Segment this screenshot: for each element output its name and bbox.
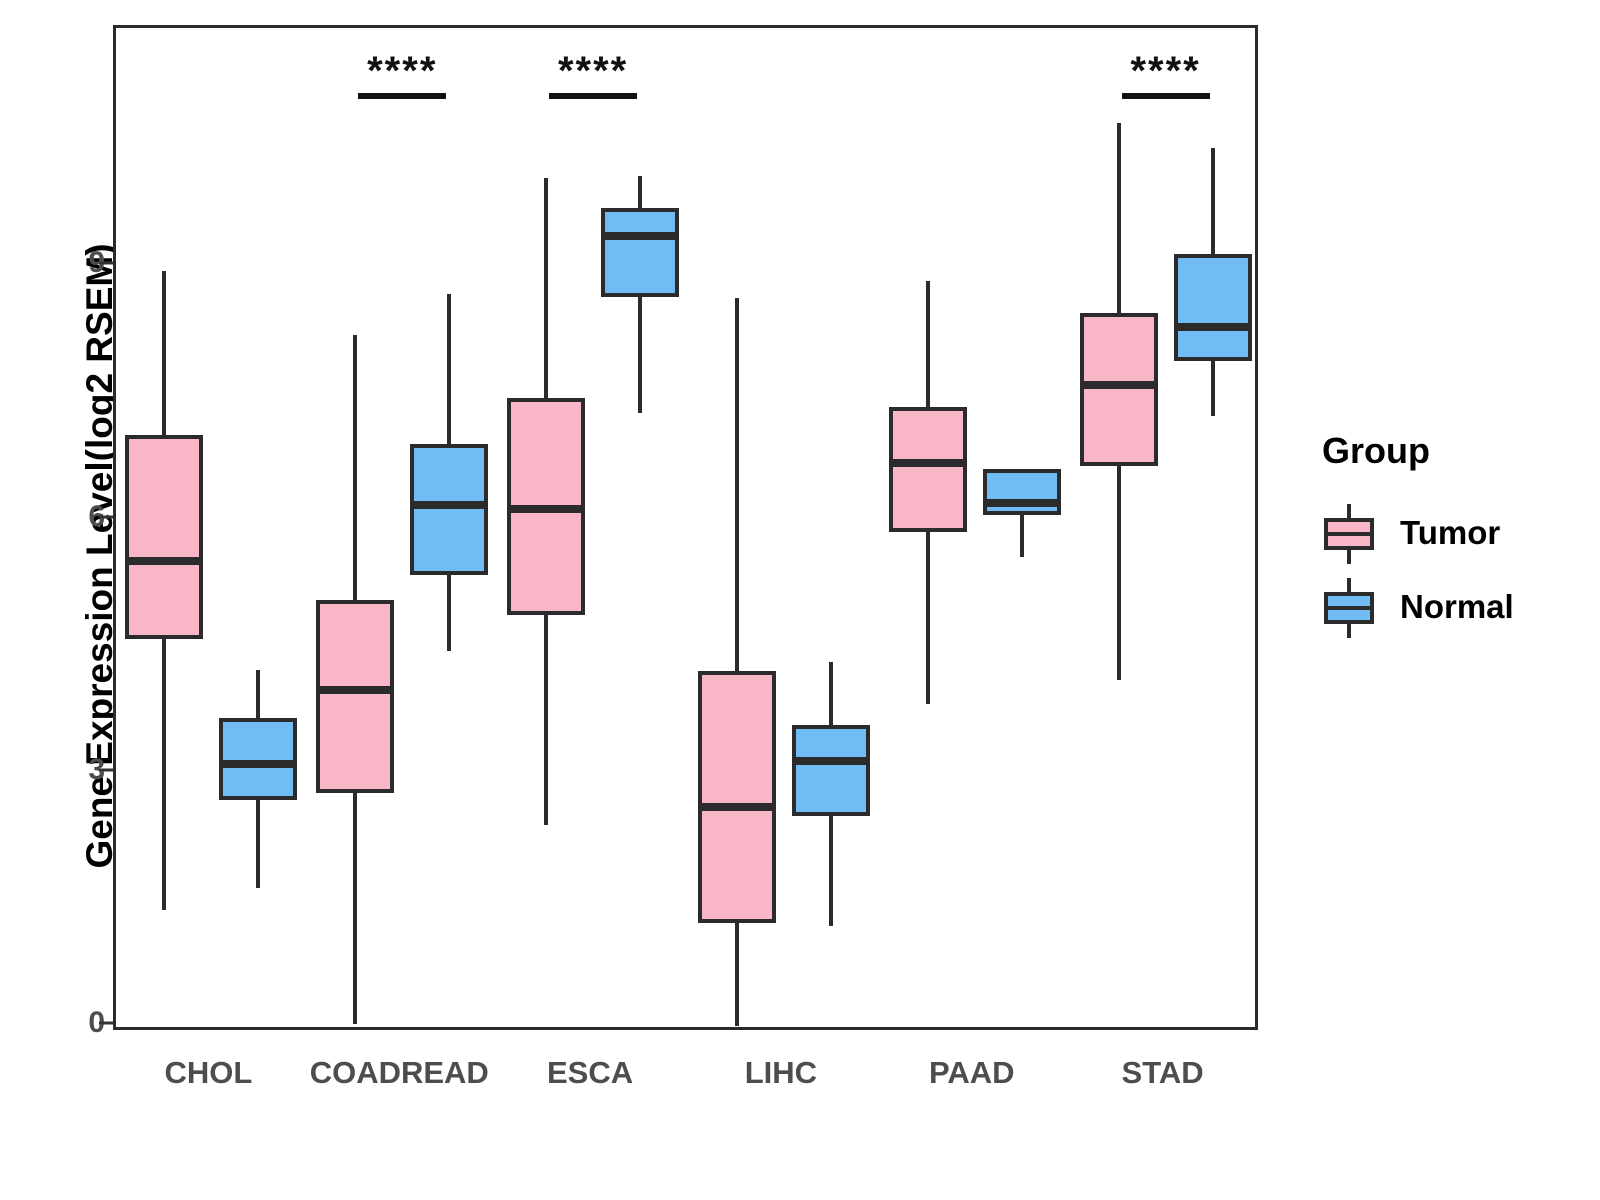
x-tick-label-esca: ESCA <box>547 1055 633 1091</box>
y-tick-mark <box>99 1022 113 1025</box>
y-tick-label: 9 <box>45 246 105 280</box>
legend-key-normal-icon <box>1320 578 1378 636</box>
median-line <box>1174 323 1252 331</box>
y-tick-mark <box>99 768 113 771</box>
x-tick-label-paad: PAAD <box>929 1055 1015 1091</box>
x-tick-label-coadread: COADREAD <box>310 1055 489 1091</box>
x-tick-label-chol: CHOL <box>164 1055 252 1091</box>
y-tick-mark <box>99 262 113 265</box>
y-tick-label: 6 <box>45 500 105 534</box>
box-iqr <box>1174 254 1252 361</box>
legend-label-tumor: Tumor <box>1400 514 1500 552</box>
legend-item-normal[interactable]: Normal <box>1320 570 1570 644</box>
significance-label: **** <box>558 49 628 94</box>
legend: Group Tumor Normal <box>1320 430 1570 644</box>
legend-key-tumor-icon <box>1320 504 1378 562</box>
boxplot-stad-normal[interactable] <box>116 28 1255 1027</box>
whisker-lower <box>1211 361 1215 416</box>
x-tick-label-lihc: LIHC <box>745 1055 817 1091</box>
legend-title: Group <box>1322 430 1570 472</box>
legend-label-normal: Normal <box>1400 588 1514 626</box>
y-tick-label: 0 <box>45 1006 105 1040</box>
y-tick-mark <box>99 515 113 518</box>
whisker-upper <box>1211 148 1215 254</box>
x-tick-label-stad: STAD <box>1122 1055 1204 1091</box>
y-tick-label: 3 <box>45 753 105 787</box>
plot-panel: ************ <box>113 25 1258 1030</box>
plot-area: ************ <box>116 28 1255 1027</box>
significance-label: **** <box>1130 49 1200 94</box>
boxplot-figure: Gene Expression Level(log2 RSEM) *******… <box>0 0 1600 1200</box>
legend-item-tumor[interactable]: Tumor <box>1320 496 1570 570</box>
significance-label: **** <box>367 49 437 94</box>
